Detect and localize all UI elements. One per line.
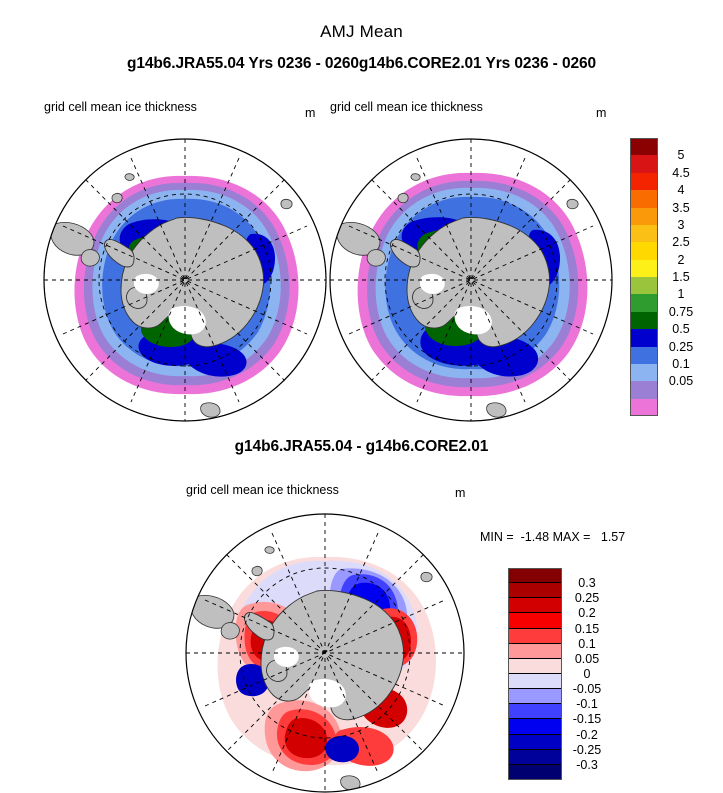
main-colorbar-swatch: [630, 399, 658, 416]
diff-colorbar-swatch: [508, 704, 562, 719]
main-colorbar-swatch: [630, 381, 658, 398]
main-colorbar-swatch: [630, 208, 658, 225]
diff-colorbar-tick-label: -0.1: [576, 697, 598, 711]
diff-colorbar-swatches: [508, 568, 562, 780]
main-colorbar-tick-label: 3: [678, 218, 685, 232]
main-colorbar-tick-label: 2.5: [672, 235, 689, 249]
right-polar-map-svg: [329, 138, 613, 422]
main-colorbar-tick-label: 0.25: [669, 340, 693, 354]
main-colorbar-tick-label: 0.75: [669, 305, 693, 319]
diff-colorbar-labels: 0.30.250.20.150.10.050-0.05-0.1-0.15-0.2…: [562, 568, 612, 780]
main-colorbar-swatch: [630, 260, 658, 277]
diff-panel-variable-label: grid cell mean ice thickness: [186, 483, 339, 497]
left-panel-units-label: m: [305, 106, 315, 120]
diff-colorbar-tick-label: -0.25: [573, 743, 602, 757]
main-colorbar-swatch: [630, 294, 658, 311]
diff-colorbar-swatch: [508, 659, 562, 674]
left-polar-map: [43, 138, 327, 422]
diff-colorbar-swatch: [508, 674, 562, 689]
diff-colorbar-swatch: [508, 598, 562, 613]
main-colorbar-tick-label: 0.05: [669, 374, 693, 388]
diff-colorbar-tick-label: 0.2: [578, 606, 595, 620]
diff-colorbar-swatch: [508, 765, 562, 780]
main-colorbar-swatch: [630, 138, 658, 155]
diff-colorbar-swatch: [508, 583, 562, 598]
diff-colorbar-tick-label: 0.05: [575, 652, 599, 666]
main-colorbar-tick-label: 4: [678, 183, 685, 197]
page-title: AMJ Mean: [0, 22, 723, 42]
diff-colorbar-swatch: [508, 735, 562, 750]
diff-colorbar-swatch: [508, 568, 562, 583]
left-polar-map-svg: [43, 138, 327, 422]
min-max-readout: MIN = -1.48 MAX = 1.57: [480, 530, 625, 544]
diff-colorbar-swatch: [508, 613, 562, 628]
main-colorbar-swatch: [630, 277, 658, 294]
main-colorbar-tick-label: 4.5: [672, 166, 689, 180]
diff-colorbar-swatch: [508, 689, 562, 704]
main-colorbar-swatch: [630, 364, 658, 381]
diff-colorbar-tick-label: -0.05: [573, 682, 602, 696]
diff-colorbar-tick-label: 0.15: [575, 622, 599, 636]
left-panel-variable-label: grid cell mean ice thickness: [44, 100, 197, 114]
main-colorbar-swatch: [630, 190, 658, 207]
main-colorbar-tick-label: 3.5: [672, 201, 689, 215]
case-titles: g14b6.JRA55.04 Yrs 0236 - 0260g14b6.CORE…: [0, 55, 723, 73]
diff-colorbar-tick-label: 0: [584, 667, 591, 681]
right-panel-variable-label: grid cell mean ice thickness: [330, 100, 483, 114]
main-colorbar-tick-label: 1: [678, 287, 685, 301]
diff-title: g14b6.JRA55.04 - g14b6.CORE2.01: [0, 438, 723, 456]
diff-colorbar-tick-label: 0.3: [578, 576, 595, 590]
main-colorbar-swatch: [630, 173, 658, 190]
diff-colorbar-tick-label: -0.3: [576, 758, 598, 772]
diff-polar-map: [185, 513, 465, 793]
diff-colorbar-tick-label: -0.15: [573, 712, 602, 726]
diff-colorbar-tick-label: 0.1: [578, 637, 595, 651]
diff-colorbar-swatch: [508, 750, 562, 765]
diff-colorbar-swatch: [508, 629, 562, 644]
right-polar-map: [329, 138, 613, 422]
main-colorbar-tick-label: 0.5: [672, 322, 689, 336]
main-colorbar-swatch: [630, 155, 658, 172]
main-colorbar-swatch: [630, 225, 658, 242]
main-colorbar-tick-label: 5: [678, 148, 685, 162]
main-colorbar-tick-label: 1.5: [672, 270, 689, 284]
diff-colorbar-swatch: [508, 644, 562, 659]
diff-panel-units-label: m: [455, 486, 465, 500]
diff-colorbar-tick-label: 0.25: [575, 591, 599, 605]
diff-polar-map-svg: [185, 513, 465, 793]
diff-colorbar[interactable]: [508, 568, 562, 780]
diff-colorbar-swatch: [508, 719, 562, 734]
main-colorbar-swatches: [630, 138, 658, 416]
main-colorbar[interactable]: [630, 138, 658, 416]
main-colorbar-swatch: [630, 329, 658, 346]
diff-colorbar-tick-label: -0.2: [576, 728, 598, 742]
main-colorbar-labels: 54.543.532.521.510.750.50.250.10.05: [658, 138, 704, 416]
right-panel-units-label: m: [596, 106, 606, 120]
main-colorbar-swatch: [630, 242, 658, 259]
main-colorbar-tick-label: 2: [678, 253, 685, 267]
main-colorbar-tick-label: 0.1: [672, 357, 689, 371]
main-colorbar-swatch: [630, 312, 658, 329]
main-colorbar-swatch: [630, 347, 658, 364]
